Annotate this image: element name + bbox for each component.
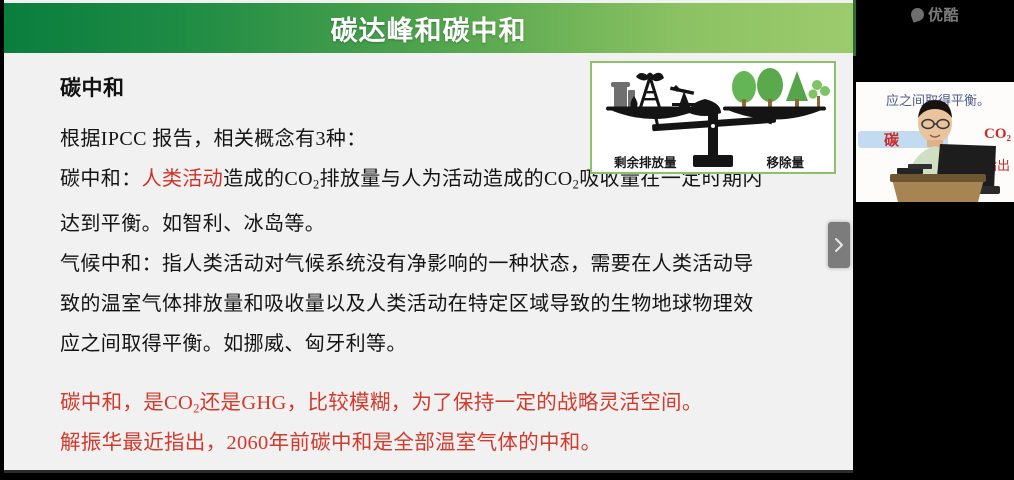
red-annotation-block: 碳中和，是CO2还是GHG，比较模糊，为了保持一定的战略灵活空间。 解振华最近指… [60,386,835,460]
speaker-at-podium-illustration [856,82,1014,202]
red-note-1-sub: 2 [193,402,200,416]
cn-sub-1: 2 [313,177,320,191]
youku-logo-icon [909,6,926,23]
figure-caption-left: 剩余排放量 [614,152,677,171]
red-note-line-1: 碳中和，是CO2还是GHG，比较模糊，为了保持一定的战略灵活空间。 [60,386,835,426]
panel-filler [856,202,1014,480]
slide-title: 碳达峰和碳中和 [331,9,527,48]
youku-watermark: 优酷 [856,2,1014,26]
cn-mid1: 造成的CO [223,168,313,190]
cn-mid2: 排放量与人为活动造成的CO [320,168,573,190]
paragraph-balance: 达到平衡。如智利、冰岛等。 [60,204,835,244]
slide-title-banner: 碳达峰和碳中和 [4,3,853,53]
paragraph-climate-neutral-1: 气候中和：指人类活动对气候系统没有净影响的一种状态，需要在人类活动导 [60,244,835,284]
red-note-line-2: 解振华最近指出，2060年前碳中和是全部温室气体的中和。 [60,426,835,460]
screen-root: 碳达峰和碳中和 碳中和 根据IPCC 报告，相关概念有3种： 碳中和：人类活动造… [0,0,1014,480]
red-note-1-a: 碳中和，是CO [60,392,193,414]
paragraph-climate-neutral-2: 致的温室气体排放量和吸收量以及人类活动在特定区域导致的生物地球物理效 [60,284,835,324]
next-slide-button[interactable] [828,222,850,268]
cn-highlight-human-activity: 人类活动 [142,168,224,190]
paragraph-climate-neutral-3: 应之间取得平衡。如挪威、匈牙利等。 [60,324,835,364]
chevron-right-icon [834,237,844,253]
figure-caption-right: 移除量 [766,152,804,171]
red-note-1-b: 还是GHG，比较模糊，为了保持一定的战略灵活空间。 [200,392,703,414]
video-frame[interactable]: 应之间取得平衡。 碳 CO₂ 近指出 [856,82,1014,202]
slide-bottom-edge [4,470,853,473]
speaker-video-panel[interactable]: 优酷 应之间取得平衡。 碳 CO₂ 近指出 [856,0,1014,480]
youku-watermark-text: 优酷 [928,4,959,25]
balance-scale-figure: 剩余排放量 移除量 [590,61,836,174]
cn-prefix: 碳中和： [60,168,142,190]
presentation-slide: 碳达峰和碳中和 碳中和 根据IPCC 报告，相关概念有3种： 碳中和：人类活动造… [4,0,853,473]
